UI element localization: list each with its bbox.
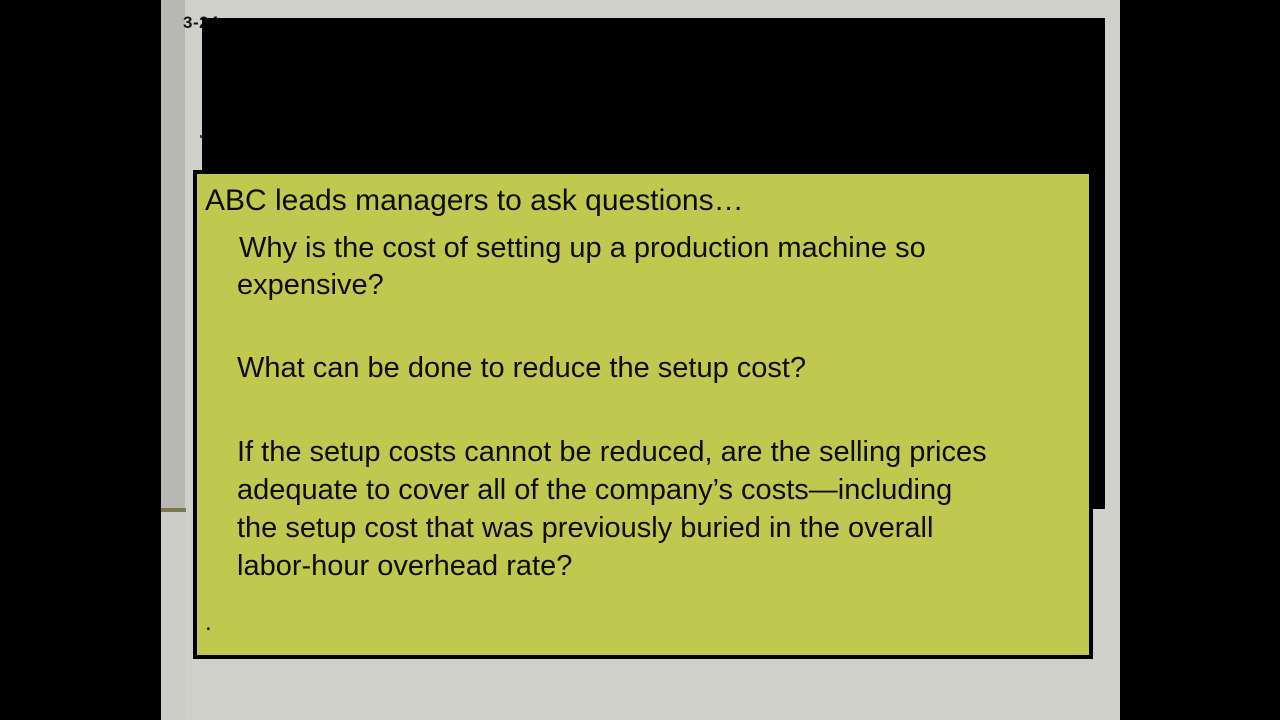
video-frame: 3-24 Benefits of Activity-Based Costing … [0, 0, 1280, 720]
question-3-line-4: labor-hour overhead rate? [237, 550, 572, 583]
pillarbox-right [1120, 0, 1280, 720]
slide-left-band [161, 0, 185, 511]
question-3-line-3: the setup cost that was previously burie… [237, 512, 933, 545]
content-card-inner: ABC leads managers to ask questions… Why… [197, 174, 1089, 655]
question-1-line-2: expensive? [237, 269, 384, 302]
question-2-line-1: What can be done to reduce the setup cos… [237, 352, 806, 385]
trailing-bullet-mark: . [205, 609, 212, 637]
question-1-line-1: Why is the cost of setting up a producti… [239, 232, 926, 265]
question-3-line-2: adequate to cover all of the company’s c… [237, 474, 952, 507]
slide-canvas: 3-24 Benefits of Activity-Based Costing … [161, 0, 1120, 720]
content-heading: ABC leads managers to ask questions… [205, 184, 744, 218]
question-3-line-1: If the setup costs cannot be reduced, ar… [237, 436, 987, 469]
content-card: ABC leads managers to ask questions… Why… [193, 170, 1093, 659]
pillarbox-left [0, 0, 161, 720]
slide-left-band-cap [161, 508, 186, 512]
